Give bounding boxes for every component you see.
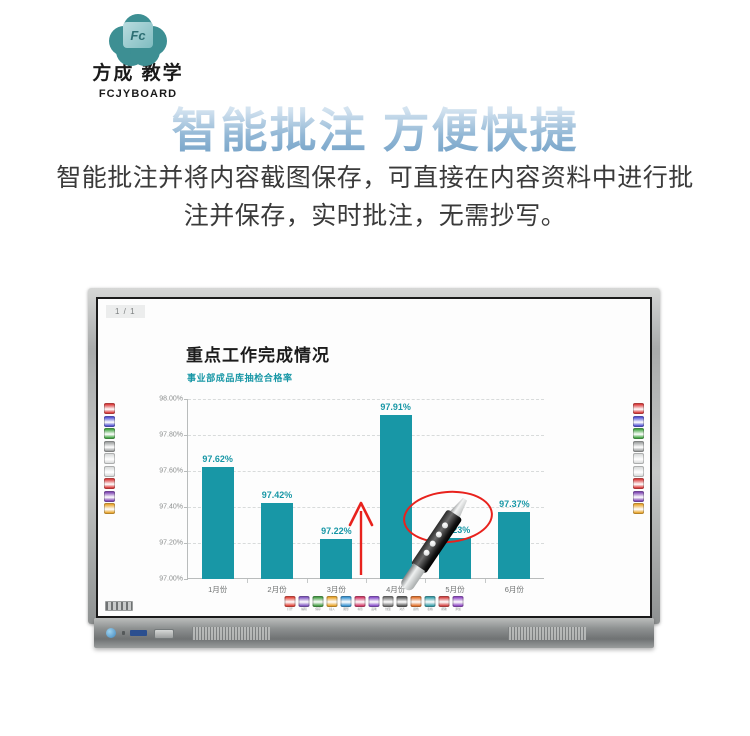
logo-glyph: Fc xyxy=(123,22,153,48)
y-tick xyxy=(184,543,188,544)
x-axis-separator xyxy=(485,579,486,583)
tool-label: 打开 xyxy=(285,608,296,611)
tool-label: 图形 xyxy=(341,608,352,611)
x-axis-separator xyxy=(366,579,367,583)
palette-tool[interactable] xyxy=(633,491,644,502)
tool-label: 画笔 xyxy=(369,608,380,611)
x-tick-label: 5月份 xyxy=(445,584,464,595)
chart-title: 重点工作完成情况 xyxy=(186,341,330,366)
tool-label: 插入 xyxy=(327,608,338,611)
tool-label: 帮助 xyxy=(439,608,450,611)
line-style-icon xyxy=(383,596,394,607)
line-style-tool[interactable]: 线型 xyxy=(383,596,394,611)
speaker-grille xyxy=(508,627,586,640)
bar-value-label: 97.37% xyxy=(499,499,530,509)
tool-label: 保存 xyxy=(313,608,324,611)
shape-tool[interactable]: 图形 xyxy=(341,596,352,611)
marker-green-tool[interactable] xyxy=(633,428,644,439)
chart-subtitle: 事业部成品库抽检合格率 xyxy=(187,371,293,384)
insert-icon xyxy=(327,596,338,607)
edit-tool[interactable]: 编辑 xyxy=(299,596,310,611)
y-tick-label: 97.80% xyxy=(159,432,183,439)
undo-tool[interactable] xyxy=(104,453,115,464)
x-axis-separator xyxy=(247,579,248,583)
flower-logo-icon: Fc xyxy=(109,14,167,62)
marker-red-tool[interactable] xyxy=(633,403,644,414)
x-axis-separator xyxy=(425,579,426,583)
eraser-tool[interactable] xyxy=(633,478,644,489)
bar-value-label: 97.91% xyxy=(380,402,411,412)
tool-label: 表格 xyxy=(425,608,436,611)
more-tool[interactable] xyxy=(633,503,644,514)
open-file-tool[interactable]: 打开 xyxy=(285,596,296,611)
add-tool[interactable]: 添加 xyxy=(453,596,464,611)
help-tool[interactable]: 帮助 xyxy=(439,596,450,611)
y-tick-label: 97.00% xyxy=(159,576,183,583)
color-palette-icon xyxy=(411,596,422,607)
bar: 97.62%1月份 xyxy=(202,467,234,579)
display-bezel: 1 / 1 重点工作完成情况 事业部成品库抽检合格率 97.00%97.20%9… xyxy=(88,288,660,624)
logo-chinese-name: 方成 教学 xyxy=(78,64,198,85)
y-axis-line xyxy=(187,399,188,579)
align-tool[interactable]: 对齐 xyxy=(397,596,408,611)
red-up-arrow-icon xyxy=(348,499,374,577)
x-axis-separator xyxy=(307,579,308,583)
open-file-icon xyxy=(285,596,296,607)
insert-tool[interactable]: 插入 xyxy=(327,596,338,611)
bar: 97.42%2月份 xyxy=(261,503,293,579)
bar-value-label: 97.22% xyxy=(321,526,352,536)
marker-red-tool[interactable] xyxy=(104,403,115,414)
bookmark-tool[interactable]: 书签 xyxy=(355,596,366,611)
tool-label: 颜色 xyxy=(411,608,422,611)
left-tool-sidebar[interactable] xyxy=(104,403,115,514)
page-indicator: 1 / 1 xyxy=(106,305,145,318)
page-thumbnail-widget[interactable] xyxy=(105,601,133,611)
interactive-whiteboard: 1 / 1 重点工作完成情况 事业部成品库抽检合格率 97.00%97.20%9… xyxy=(88,288,660,656)
page-headline: 智能批注 方便快捷 xyxy=(0,92,750,161)
tool-label: 书签 xyxy=(355,608,366,611)
display-screen[interactable]: 1 / 1 重点工作完成情况 事业部成品库抽检合格率 97.00%97.20%9… xyxy=(96,297,652,618)
pen-tool[interactable]: 画笔 xyxy=(369,596,380,611)
add-icon xyxy=(453,596,464,607)
tool-label: 添加 xyxy=(453,608,464,611)
bar-chart-plot: 97.00%97.20%97.40%97.60%97.80%98.00% 97.… xyxy=(188,399,544,579)
shape-icon xyxy=(341,596,352,607)
color-palette-tool[interactable]: 颜色 xyxy=(411,596,422,611)
gridline xyxy=(188,471,544,472)
x-tick-label: 6月份 xyxy=(505,584,524,595)
y-tick-label: 97.60% xyxy=(159,468,183,475)
y-tick xyxy=(184,471,188,472)
tool-label: 编辑 xyxy=(299,608,310,611)
pencil-tool[interactable] xyxy=(104,441,115,452)
table-tool[interactable]: 表格 xyxy=(425,596,436,611)
right-tool-sidebar[interactable] xyxy=(633,403,644,514)
y-tick-label: 97.20% xyxy=(159,540,183,547)
align-icon xyxy=(397,596,408,607)
power-button[interactable] xyxy=(106,628,116,638)
pencil-tool[interactable] xyxy=(633,441,644,452)
x-tick-label: 1月份 xyxy=(208,584,227,595)
redo-tool[interactable] xyxy=(104,466,115,477)
pen-icon xyxy=(369,596,380,607)
undo-tool[interactable] xyxy=(633,453,644,464)
usb-port xyxy=(130,630,147,636)
x-tick-label: 2月份 xyxy=(267,584,286,595)
more-tool[interactable] xyxy=(104,503,115,514)
bar: 97.37%6月份 xyxy=(498,512,530,579)
y-tick xyxy=(184,579,188,580)
tool-label: 线型 xyxy=(383,608,394,611)
speaker-grille xyxy=(192,627,270,640)
bookmark-icon xyxy=(355,596,366,607)
page-subcopy: 智能批注并将内容截图保存，可直接在内容资料中进行批注并保存，实时批注，无需抄写。 xyxy=(55,160,695,235)
y-tick xyxy=(184,435,188,436)
marker-blue-tool[interactable] xyxy=(633,416,644,427)
hdmi-port xyxy=(154,629,174,639)
tool-label: 对齐 xyxy=(397,608,408,611)
bottom-toolbar[interactable]: 打开编辑保存插入图形书签画笔线型对齐颜色表格帮助添加 xyxy=(285,596,464,611)
redo-tool[interactable] xyxy=(633,466,644,477)
table-icon xyxy=(425,596,436,607)
marker-blue-tool[interactable] xyxy=(104,416,115,427)
device-base-bar xyxy=(94,618,654,648)
status-led xyxy=(122,631,125,635)
brand-logo: Fc 方成 教学 FCJYBOARD xyxy=(78,14,198,100)
y-tick-label: 97.40% xyxy=(159,504,183,511)
bar: 97.91%4月份 xyxy=(380,415,412,579)
x-tick-label: 3月份 xyxy=(327,584,346,595)
y-tick xyxy=(184,399,188,400)
bar-value-label: 97.62% xyxy=(202,454,233,464)
gridline xyxy=(188,435,544,436)
palette-tool[interactable] xyxy=(104,491,115,502)
gridline xyxy=(188,399,544,400)
y-tick-label: 98.00% xyxy=(159,396,183,403)
edit-icon xyxy=(299,596,310,607)
bar-value-label: 97.42% xyxy=(262,490,293,500)
y-tick xyxy=(184,507,188,508)
save-tool[interactable]: 保存 xyxy=(313,596,324,611)
marker-green-tool[interactable] xyxy=(104,428,115,439)
eraser-tool[interactable] xyxy=(104,478,115,489)
help-icon xyxy=(439,596,450,607)
save-icon xyxy=(313,596,324,607)
